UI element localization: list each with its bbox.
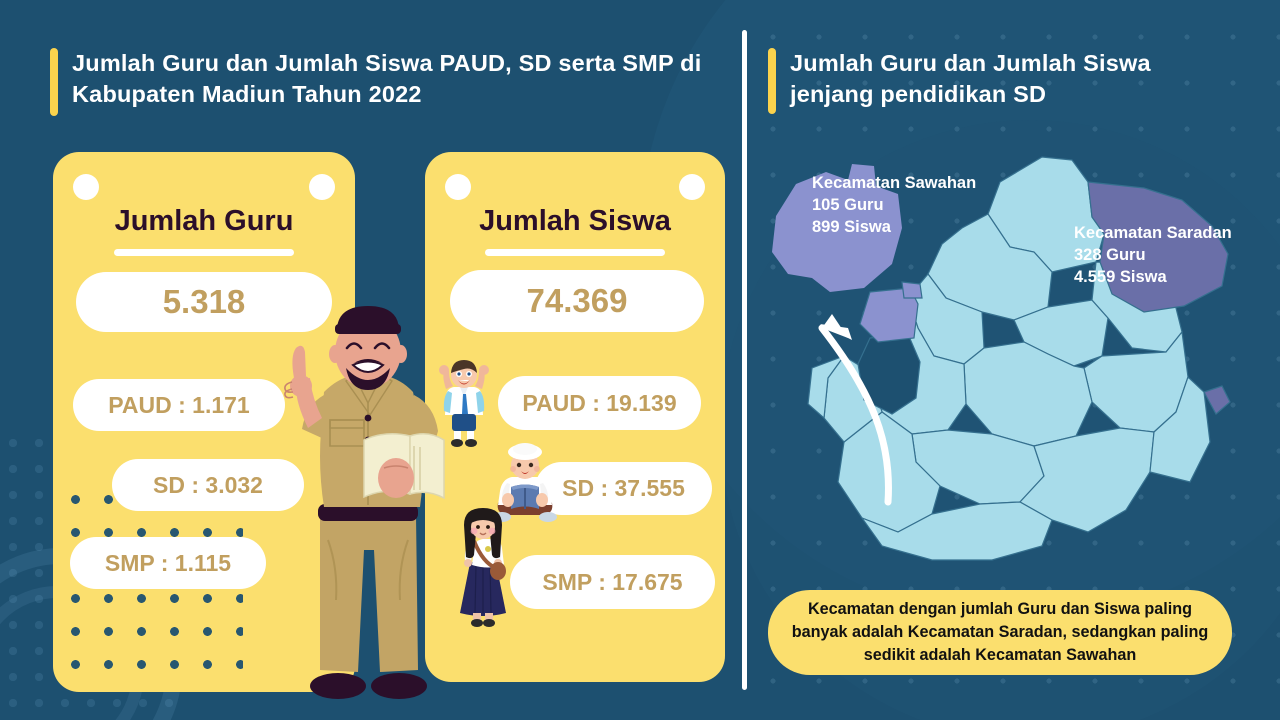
card-hole-right-icon bbox=[309, 174, 335, 200]
summary-caption: Kecamatan dengan jumlah Guru dan Siswa p… bbox=[768, 590, 1232, 675]
map-annotation-sawahan: Kecamatan Sawahan 105 Guru 899 Siswa bbox=[812, 172, 976, 238]
accent-bar-left bbox=[50, 48, 58, 116]
accent-bar-right bbox=[768, 48, 776, 114]
left-panel-title: Jumlah Guru dan Jumlah Siswa PAUD, SD se… bbox=[72, 48, 710, 110]
annotation-saradan-name: Kecamatan Saradan bbox=[1074, 222, 1232, 244]
card-hole-left-icon bbox=[445, 174, 471, 200]
card-hole-right-icon bbox=[679, 174, 705, 200]
card-siswa-total-value: 74.369 bbox=[450, 270, 704, 332]
annotation-saradan-guru: 328 Guru bbox=[1074, 244, 1232, 266]
annotation-saradan-siswa: 4.559 Siswa bbox=[1074, 266, 1232, 288]
map-annotation-saradan: Kecamatan Saradan 328 Guru 4.559 Siswa bbox=[1074, 222, 1232, 288]
infographic-canvas: Jumlah Guru dan Jumlah Siswa PAUD, SD se… bbox=[0, 0, 1280, 720]
annotation-sawahan-name: Kecamatan Sawahan bbox=[812, 172, 976, 194]
right-panel-header: Jumlah Guru dan Jumlah Siswa jenjang pen… bbox=[768, 48, 1238, 114]
card-guru-title: Jumlah Guru bbox=[53, 205, 355, 238]
annotation-sawahan-guru: 105 Guru bbox=[812, 194, 976, 216]
card-guru-row-smp: SMP : 1.115 bbox=[70, 537, 266, 589]
card-siswa-row-smp: SMP : 17.675 bbox=[510, 555, 715, 609]
card-guru-title-underline bbox=[114, 249, 294, 256]
right-panel-title: Jumlah Guru dan Jumlah Siswa jenjang pen… bbox=[790, 48, 1238, 110]
card-siswa-title: Jumlah Siswa bbox=[425, 205, 725, 238]
card-siswa-title-underline bbox=[485, 249, 665, 256]
vertical-divider bbox=[742, 30, 747, 690]
card-guru-row-paud: PAUD : 1.171 bbox=[73, 379, 285, 431]
left-panel-header: Jumlah Guru dan Jumlah Siswa PAUD, SD se… bbox=[50, 48, 710, 116]
teacher-illustration bbox=[268, 300, 468, 720]
annotation-sawahan-siswa: 899 Siswa bbox=[812, 216, 976, 238]
card-siswa-row-paud: PAUD : 19.139 bbox=[498, 376, 701, 430]
card-hole-left-icon bbox=[73, 174, 99, 200]
